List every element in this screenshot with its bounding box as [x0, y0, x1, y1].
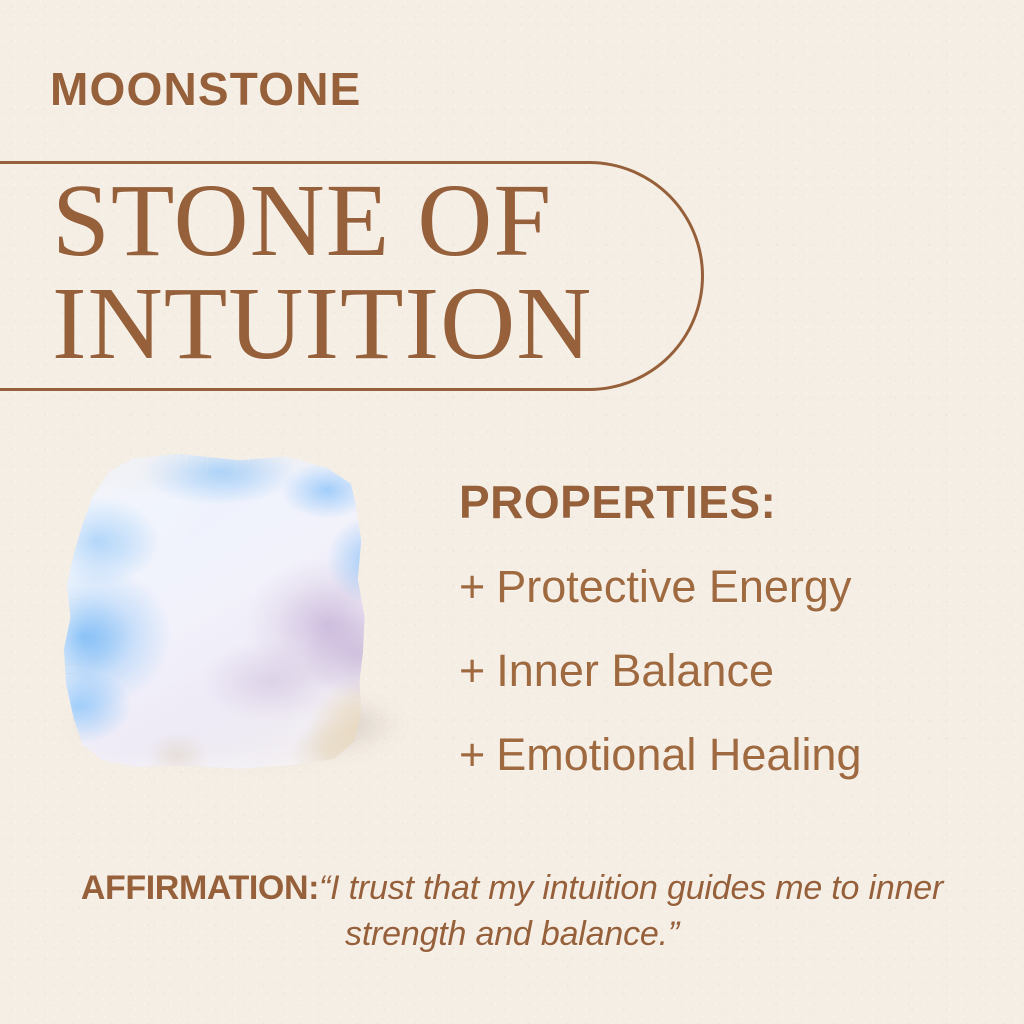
property-item-label: Protective Energy — [496, 561, 851, 612]
plus-icon: + — [459, 729, 485, 780]
plus-icon: + — [459, 645, 485, 696]
moonstone-image — [52, 440, 422, 795]
properties-heading: PROPERTIES: — [459, 479, 979, 525]
affirmation-section: AFFIRMATION:“I trust that my intuition g… — [40, 866, 984, 957]
page-eyebrow-title: MOONSTONE — [50, 66, 362, 112]
moonstone-crystal-card: MOONSTONE STONE OF INTUITION PROPERTIES:… — [0, 0, 1024, 1024]
property-item-label: Inner Balance — [496, 645, 774, 696]
plus-icon: + — [459, 561, 485, 612]
page-title: STONE OF INTUITION — [52, 172, 672, 374]
moonstone-body — [62, 452, 402, 770]
properties-section: PROPERTIES: +Protective Energy +Inner Ba… — [459, 479, 979, 777]
property-item: +Protective Energy — [459, 564, 979, 609]
moonstone-highlight — [62, 452, 402, 770]
property-item: +Emotional Healing — [459, 732, 979, 777]
property-item: +Inner Balance — [459, 648, 979, 693]
affirmation-label: AFFIRMATION: — [81, 869, 319, 907]
page-title-line-1: STONE OF — [52, 172, 672, 271]
property-item-label: Emotional Healing — [496, 729, 861, 780]
affirmation-quote: “I trust that my intuition guides me to … — [319, 869, 943, 953]
page-title-line-2: INTUITION — [52, 275, 672, 374]
